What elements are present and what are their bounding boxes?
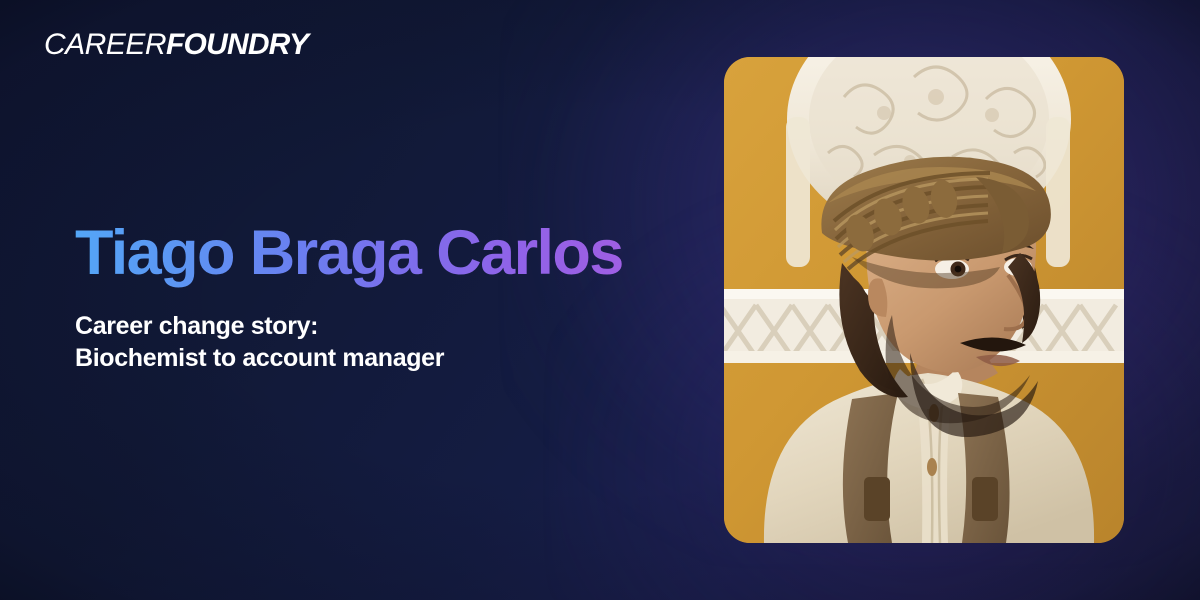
hero-subtitle: Career change story: Biochemist to accou… xyxy=(75,310,695,374)
careerfoundry-logo[interactable]: CAREERFOUNDRY xyxy=(44,28,308,62)
subtitle-line-2: Biochemist to account manager xyxy=(75,342,695,374)
page-title: Tiago Braga Carlos xyxy=(75,216,695,290)
portrait-photo-card xyxy=(724,57,1124,543)
logo-word-foundry: FOUNDRY xyxy=(166,28,308,61)
portrait-photo xyxy=(724,57,1124,543)
logo-word-career: CAREER xyxy=(44,28,166,61)
career-change-story-banner: CAREERFOUNDRY Tiago Braga Carlos Career … xyxy=(0,0,1200,600)
subtitle-line-1: Career change story: xyxy=(75,310,695,342)
hero-copy: Tiago Braga Carlos Career change story: … xyxy=(75,216,695,374)
